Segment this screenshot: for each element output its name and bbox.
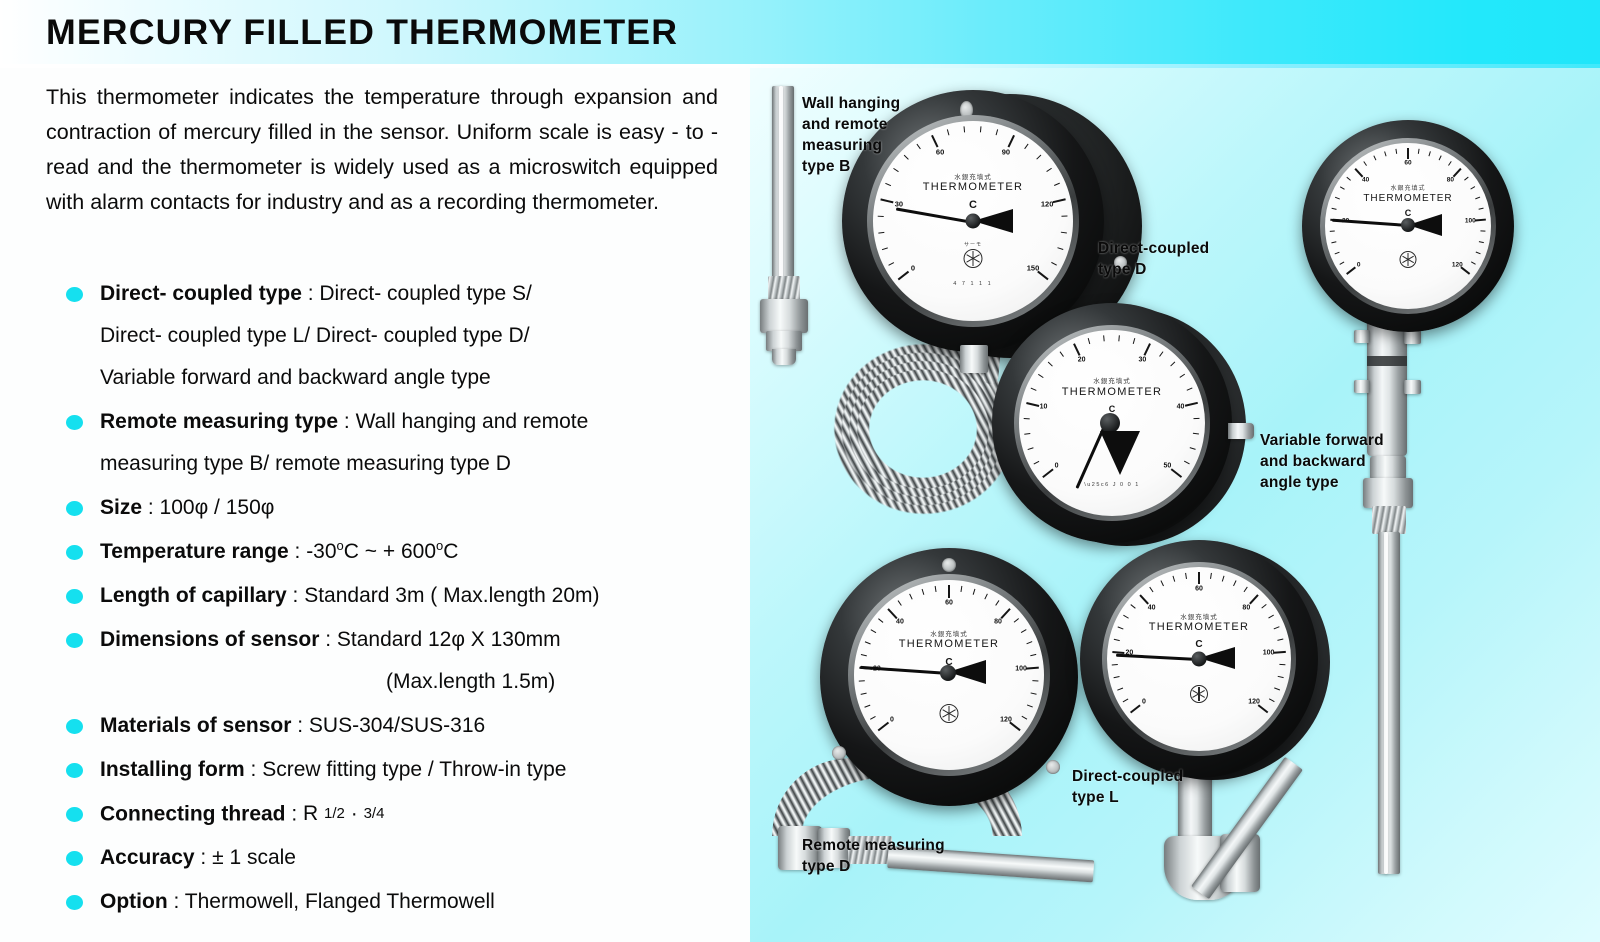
dial-kanji-text: 水銀充填式: [930, 628, 968, 638]
spec-row: Option : Thermowell, Flanged Thermowell: [46, 881, 736, 923]
gauge-needle-hub: [1100, 413, 1120, 433]
dial-minor-tick: [859, 680, 865, 682]
spec-value: ± 1 scale: [212, 846, 296, 869]
product-datasheet-page: MERCURY FILLED THERMOMETER This thermome…: [0, 0, 1600, 942]
dial-minor-tick: [1028, 447, 1034, 450]
dial-scale-label: 60: [1195, 586, 1203, 593]
dial-maker-logo: [964, 249, 983, 268]
dial-scale-label: 40: [896, 618, 904, 625]
dial-minor-tick: [1330, 230, 1335, 232]
dial-minor-tick: [1262, 604, 1267, 608]
bullet-icon: [66, 501, 83, 516]
dial-major-tick: [887, 608, 897, 619]
spec-separator: :: [287, 584, 305, 607]
dial-minor-tick: [1058, 247, 1064, 250]
dial-major-tick: [948, 585, 950, 598]
dial-minor-tick: [1194, 418, 1200, 419]
dial-minor-tick: [865, 705, 871, 708]
dial-kanji-text: 水銀充填式: [954, 171, 992, 181]
dial-minor-tick: [1124, 615, 1129, 619]
dial-major-tick: [1171, 469, 1182, 478]
spec-row: Dimensions of sensor : Standard 12φ X 13…: [46, 619, 736, 703]
dial-minor-tick: [1476, 252, 1481, 255]
gauge-needle-hub: [966, 214, 981, 229]
dial-minor-tick: [1476, 197, 1481, 200]
dial-minor-tick: [1190, 447, 1196, 450]
dial-minor-tick: [1396, 149, 1398, 154]
dial-brand-text: THERMOMETER: [1363, 193, 1452, 204]
dial-minor-tick: [1022, 629, 1027, 633]
bullet-icon: [66, 851, 83, 866]
dial-minor-tick: [1014, 618, 1019, 622]
dial-minor-tick: [1364, 161, 1368, 166]
dial-minor-tick: [996, 129, 999, 135]
spec-value: Direct- coupled type S/: [319, 282, 531, 305]
dial-minor-tick: [1173, 576, 1176, 582]
specifications-column: This thermometer indicates the temperatu…: [0, 68, 750, 942]
dial-major-tick: [1249, 594, 1259, 604]
dial-minor-tick: [1033, 680, 1039, 682]
dial-maker-text: サーモ: [964, 241, 982, 248]
dial-minor-tick: [1180, 374, 1185, 378]
dial-major-tick: [1198, 572, 1200, 584]
spec-label: Remote measuring type: [100, 410, 338, 433]
dial-scale-label: 0: [1142, 699, 1146, 706]
gauge-variable-angle-type: 020406080100120 水銀充填式 THERMOMETER C: [1302, 120, 1532, 350]
dial-minor-tick: [1222, 576, 1225, 582]
dial-minor-tick: [1280, 664, 1286, 666]
stem-thread: [1372, 506, 1406, 534]
angle-joint-seam: [1367, 356, 1407, 366]
dial-minor-tick: [1037, 155, 1042, 160]
dial-minor-tick: [1027, 641, 1033, 644]
dial-major-tick: [1407, 148, 1409, 159]
probe-hex-nut: [760, 299, 808, 333]
dial-scale-label: 0: [911, 263, 915, 272]
spec-separator: :: [142, 496, 160, 519]
dial-major-tick: [1475, 219, 1486, 222]
dial-scale-label: 60: [1404, 160, 1411, 167]
dial-minor-tick: [1269, 615, 1274, 619]
dial-minor-tick: [961, 586, 963, 592]
page-title: MERCURY FILLED THERMOMETER: [46, 13, 678, 53]
spec-label: Temperature range: [100, 540, 289, 563]
probe-stem: [772, 86, 794, 278]
dial-scale-label: 80: [994, 618, 1002, 625]
dial-minor-tick: [922, 589, 925, 595]
spec-row: Installing form : Screw fitting type / T…: [46, 749, 736, 791]
dial-minor-tick: [1465, 177, 1470, 181]
dial-minor-tick: [1335, 252, 1340, 255]
dial-minor-tick: [1194, 433, 1200, 435]
bullet-icon: [66, 763, 83, 778]
dial-major-tick: [1346, 266, 1356, 274]
spec-value: 100φ / 150φ: [160, 496, 275, 519]
dial-scale-label: 90: [1002, 148, 1010, 157]
dial-scale-label: 30: [1138, 356, 1146, 363]
dial-maker-logo: [1400, 251, 1417, 268]
dial-minor-tick: [1161, 580, 1164, 586]
spec-label: Dimensions of sensor: [100, 628, 319, 651]
dial-minor-tick: [1418, 149, 1420, 154]
dial-minor-tick: [898, 600, 902, 605]
dial-minor-tick: [1278, 639, 1284, 641]
spec-value-continued: measuring type B/ remote measuring type …: [100, 443, 736, 485]
spec-label: Installing form: [100, 758, 245, 781]
gauge-bottom-connector: [960, 345, 988, 373]
caption-direct-coupled-type-d: Direct-coupled type D: [1098, 238, 1209, 280]
dial-minor-tick: [1335, 197, 1340, 200]
dial-minor-tick: [1278, 676, 1284, 678]
caption-direct-coupled-type-l: Direct-coupled type L: [1072, 766, 1183, 808]
dial-minor-tick: [996, 600, 1000, 605]
dial-minor-tick: [871, 629, 876, 633]
spec-label: Length of capillary: [100, 584, 287, 607]
spec-row: Size : 100φ / 150φ: [46, 487, 736, 529]
spec-row: Direct- coupled type : Direct- coupled t…: [46, 273, 736, 399]
spec-value: Screw fitting type / Throw-in type: [262, 758, 566, 781]
spec-separator: :: [291, 714, 309, 737]
dial-scale-label: 80: [1447, 176, 1454, 183]
dial-minor-tick: [1171, 362, 1176, 367]
dial-minor-tick: [910, 594, 913, 600]
dial-minor-tick: [1160, 351, 1164, 356]
spec-label: Size: [100, 496, 142, 519]
dial-minor-tick: [1118, 688, 1124, 691]
dial-minor-tick: [1150, 587, 1154, 592]
bullet-icon: [66, 807, 83, 822]
dial-minor-tick: [861, 654, 867, 656]
caption-wall-hanging-type-b: Wall hanging and remote measuring type B: [802, 93, 900, 177]
dial-minor-tick: [1429, 151, 1432, 156]
spec-value: Standard 3m ( Max.length 20m): [304, 584, 599, 607]
dial-major-tick: [1009, 722, 1020, 731]
dial-minor-tick: [1234, 580, 1237, 586]
dial-minor-tick: [878, 216, 884, 217]
angle-bolt-lower-left: [1354, 380, 1370, 393]
dial-minor-tick: [879, 232, 885, 234]
dial-minor-tick: [1471, 261, 1476, 264]
spec-value-continued: Direct- coupled type L/ Direct- coupled …: [100, 315, 736, 357]
dial-minor-tick: [1060, 351, 1064, 356]
dial-minor-tick: [1038, 374, 1043, 378]
dial-scale-label: 120: [1452, 261, 1463, 268]
dial-major-tick: [1130, 704, 1141, 713]
dial-minor-tick: [1062, 216, 1068, 217]
dial-scale-label: 50: [1164, 463, 1172, 470]
dial-major-tick: [897, 271, 909, 281]
gauge-pointer-tail: [1100, 431, 1140, 475]
spec-label: Connecting thread: [100, 802, 286, 825]
dial-minor-tick: [1210, 573, 1212, 579]
caption-remote-measuring-type-d: Remote measuring type D: [802, 835, 945, 877]
dial-minor-tick: [1062, 232, 1068, 234]
spec-value: -30oC ~ + 600oC: [306, 540, 458, 563]
dial-minor-tick: [1034, 461, 1039, 465]
spec-separator: :: [245, 758, 263, 781]
dial-minor-tick: [1481, 230, 1486, 232]
dial-scale-label: 120: [1041, 199, 1054, 208]
dial-minor-tick: [1022, 716, 1027, 720]
dial-brand-text: THERMOMETER: [1062, 386, 1162, 398]
dial-minor-tick: [878, 618, 883, 622]
spec-label: Accuracy: [100, 846, 195, 869]
bullet-icon: [66, 545, 83, 560]
dial-minor-tick: [980, 126, 982, 132]
bezel-left-hole: [832, 746, 846, 760]
variable-angle-probe-highlight: [1384, 532, 1388, 874]
spec-list: Direct- coupled type : Direct- coupled t…: [46, 273, 736, 925]
dial-brand-text: THERMOMETER: [1149, 621, 1249, 633]
dial-scale-label: 40: [1362, 176, 1369, 183]
gauge-needle-hub: [1192, 652, 1207, 667]
dial-scale-label: 120: [1248, 699, 1260, 706]
dial-scale-label: 100: [1263, 650, 1275, 657]
dial-minor-tick: [1347, 177, 1352, 181]
bullet-icon: [66, 633, 83, 648]
dial-scale-label: 0: [1357, 261, 1361, 268]
dial-minor-tick: [935, 586, 937, 592]
dial-minor-tick: [1479, 208, 1484, 210]
dial-scale-label: 0: [890, 716, 894, 723]
spec-value-continued: (Max.length 1.5m): [100, 661, 736, 703]
probe-lower-nut: [766, 331, 802, 351]
dial-major-tick: [880, 198, 893, 203]
dial-model-text: \u25c6 J 0 0 1: [1084, 482, 1140, 488]
bezel-top-hole: [942, 558, 956, 572]
dial-minor-tick: [1185, 573, 1187, 579]
bullet-icon: [66, 895, 83, 910]
dial-minor-tick: [1274, 626, 1280, 629]
spec-value: SUS-304/SUS-316: [309, 714, 485, 737]
dial-minor-tick: [1052, 262, 1057, 266]
spec-separator: :: [195, 846, 213, 869]
spec-row: Length of capillary : Standard 3m ( Max.…: [46, 575, 736, 617]
dial-minor-tick: [1439, 155, 1442, 160]
dial-minor-tick: [1118, 626, 1124, 629]
dial-scale-label: 120: [1000, 716, 1012, 723]
dial-minor-tick: [1025, 433, 1031, 435]
gauge-needle-hub: [940, 665, 956, 681]
dial-minor-tick: [917, 144, 921, 149]
gauge-remote-measuring-type-d: 020406080100120 水銀充填式 THERMOMETER C: [820, 548, 1092, 808]
dial-minor-tick: [1479, 241, 1484, 243]
dial-minor-tick: [947, 129, 950, 135]
spec-separator: :: [168, 890, 185, 913]
dial-minor-tick: [1244, 587, 1248, 592]
dial-major-tick: [1073, 343, 1080, 355]
dial-minor-tick: [1031, 693, 1037, 695]
dial-scale-label: 80: [1242, 604, 1250, 611]
dial-minor-tick: [1385, 151, 1388, 156]
product-photo-panel: 0306090120150 水銀充填式 THERMOMETER C サーモ 4 …: [750, 68, 1600, 942]
dial-maker-logo: [1190, 685, 1208, 703]
dial-minor-tick: [1112, 664, 1118, 666]
dial-brand-text: THERMOMETER: [899, 638, 999, 650]
dial-minor-tick: [1374, 155, 1377, 160]
dial-minor-tick: [1340, 186, 1345, 190]
dial-scale-label: 60: [945, 599, 953, 606]
spec-label: Direct- coupled type: [100, 282, 302, 305]
spec-separator: :: [302, 282, 320, 305]
dial-minor-tick: [1448, 161, 1452, 166]
spec-label: Option: [100, 890, 168, 913]
spec-separator: :: [338, 410, 356, 433]
dial-scale-label: 40: [1148, 604, 1156, 611]
bullet-icon: [66, 287, 83, 302]
dial-major-tick: [931, 135, 939, 148]
dial-minor-tick: [1187, 387, 1193, 390]
dial-minor-tick: [861, 693, 867, 695]
dial-major-tick: [1185, 402, 1198, 407]
dial-minor-tick: [1088, 338, 1091, 344]
spec-row: Remote measuring type : Wall hanging and…: [46, 401, 736, 485]
dial-minor-tick: [1471, 186, 1476, 190]
dial-kanji-text: 水銀充填式: [1093, 375, 1131, 385]
dial-maker-logo: [940, 704, 959, 723]
gauge-direct-coupled-type-l: 020406080100120 水銀充填式 THERMOMETER C: [1080, 540, 1330, 788]
spec-label: Materials of sensor: [100, 714, 291, 737]
spec-separator: :: [286, 802, 304, 825]
dial-major-tick: [1139, 594, 1149, 604]
dial-minor-tick: [882, 247, 888, 250]
gauge-direct-coupled-type-d: 01020304050 水銀充填式 THERMOMETER C \u25c6 J…: [992, 303, 1246, 553]
dial-minor-tick: [1123, 699, 1128, 703]
dial-major-tick: [1026, 402, 1039, 407]
page-header: MERCURY FILLED THERMOMETER: [0, 0, 1600, 64]
dial-major-tick: [1026, 667, 1039, 670]
dial-minor-tick: [1275, 688, 1281, 691]
dial-major-tick: [1257, 704, 1268, 713]
dial-major-tick: [1001, 608, 1011, 619]
angle-bolt-lower-right: [1404, 380, 1421, 394]
bezel-right-hole: [1046, 760, 1060, 774]
dial-minor-tick: [1340, 261, 1345, 264]
dial-minor-tick: [1119, 335, 1121, 341]
dial-minor-tick: [889, 262, 894, 266]
dial-minor-tick: [1047, 168, 1052, 172]
dial-minor-tick: [904, 155, 909, 160]
gauge-needle-hub: [1401, 218, 1415, 232]
dial-minor-tick: [1131, 604, 1136, 608]
spec-separator: :: [289, 540, 307, 563]
gauge-side-connector: [1228, 423, 1254, 439]
dial-scale-label: 100: [1015, 666, 1027, 673]
dial-scale-label: 100: [1465, 217, 1476, 224]
dial-major-tick: [1274, 651, 1286, 654]
dial-minor-tick: [973, 589, 976, 595]
dial-scale-label: 20: [1078, 356, 1086, 363]
dial-minor-tick: [1104, 335, 1106, 341]
spec-value-continued: Variable forward and backward angle type: [100, 357, 736, 399]
dial-minor-tick: [1270, 699, 1275, 703]
dial-scale-label: 150: [1027, 263, 1040, 272]
dial-major-tick: [877, 722, 888, 731]
dial-minor-tick: [1031, 654, 1037, 656]
spec-value: Thermowell, Flanged Thermowell: [185, 890, 495, 913]
spec-row: Accuracy : ± 1 scale: [46, 837, 736, 879]
spec-separator: :: [319, 628, 337, 651]
dial-major-tick: [1007, 135, 1015, 148]
dial-minor-tick: [870, 716, 875, 720]
dial-minor-tick: [1055, 183, 1061, 186]
dial-brand-text: THERMOMETER: [923, 181, 1023, 193]
spec-row: Connecting thread : R 1/2 · 3/4: [46, 793, 736, 835]
caption-variable-angle-type: Variable forward and backward angle type: [1260, 430, 1384, 493]
spec-value: Wall hanging and remote: [356, 410, 589, 433]
dial-minor-tick: [1031, 387, 1037, 390]
dial-kanji-text: 水銀充填式: [1180, 611, 1218, 621]
dial-minor-tick: [1114, 676, 1120, 678]
probe-ferrule: [772, 349, 796, 365]
spec-value: R 1/2 · 3/4: [303, 802, 384, 825]
intro-paragraph: This thermometer indicates the temperatu…: [46, 80, 718, 220]
dial-kanji-text: 水銀充填式: [1390, 183, 1425, 192]
dial-minor-tick: [865, 641, 871, 644]
dial-minor-tick: [1114, 639, 1120, 641]
dial-major-tick: [1042, 469, 1053, 478]
probe-stem-highlight: [779, 86, 783, 278]
dial-scale-label: 60: [936, 148, 944, 157]
spec-row: Temperature range : -30oC ~ + 600oC: [46, 531, 736, 573]
spec-row: Materials of sensor : SUS-304/SUS-316: [46, 705, 736, 747]
bullet-icon: [66, 719, 83, 734]
dial-minor-tick: [1185, 461, 1190, 465]
bullet-icon: [66, 415, 83, 430]
dial-minor-tick: [1133, 338, 1136, 344]
dial-major-tick: [1144, 343, 1151, 355]
bullet-icon: [66, 589, 83, 604]
dial-scale-label: 10: [1040, 403, 1048, 410]
dial-minor-tick: [1028, 705, 1034, 708]
spec-value: Standard 12φ X 130mm: [337, 628, 561, 651]
dial-minor-tick: [1048, 362, 1053, 367]
dial-minor-tick: [1332, 241, 1337, 243]
variable-angle-probe-stem: [1378, 532, 1400, 874]
dial-minor-tick: [1024, 418, 1030, 419]
dial-minor-tick: [886, 183, 892, 186]
dial-minor-tick: [1025, 144, 1029, 149]
dial-major-tick: [1053, 198, 1066, 203]
dial-minor-tick: [1332, 208, 1337, 210]
dial-scale-label: 40: [1177, 403, 1185, 410]
dial-minor-tick: [964, 126, 966, 132]
dial-model-text: 4 7 1 1 1: [953, 281, 992, 287]
dial-minor-tick: [985, 594, 988, 600]
dial-scale-label: 0: [1055, 463, 1059, 470]
